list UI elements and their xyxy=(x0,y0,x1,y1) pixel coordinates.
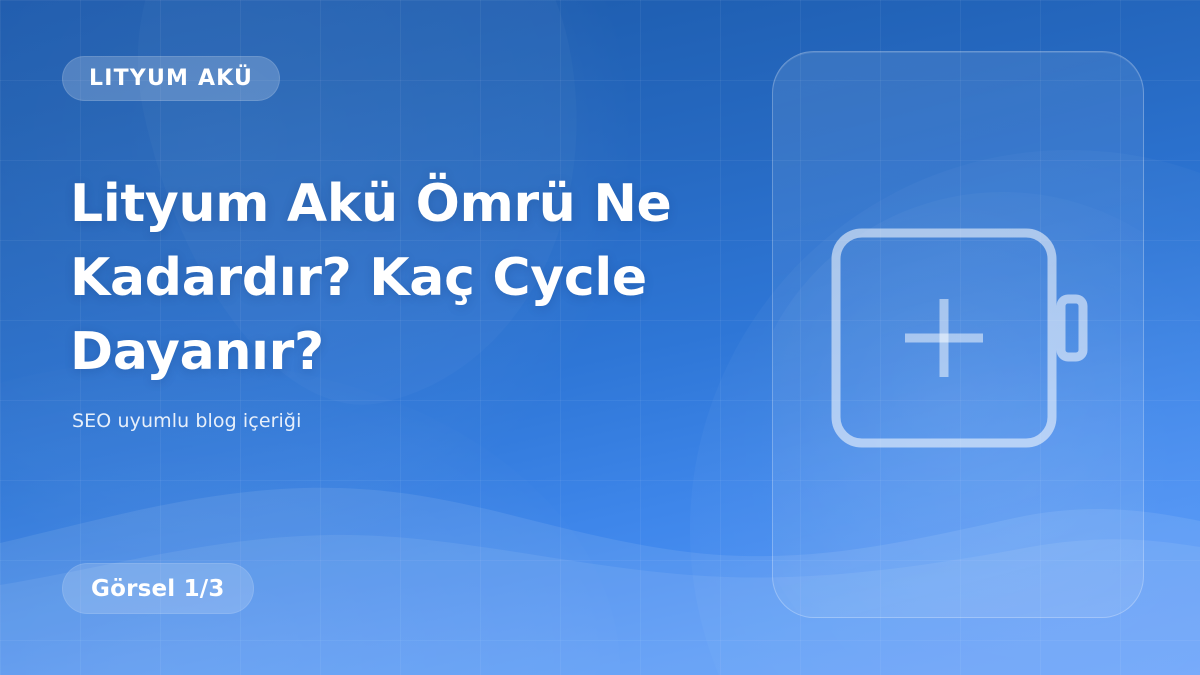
page-subtitle: SEO uyumlu blog içeriği xyxy=(72,410,301,432)
page-title: Lityum Akü Ömrü Ne Kadardır? Kaç Cycle D… xyxy=(70,168,690,389)
category-badge: LITYUM AKÜ xyxy=(62,56,280,101)
battery-plus-icon xyxy=(827,207,1089,469)
content-column: LITYUM AKÜ Lityum Akü Ömrü Ne Kadardır? … xyxy=(62,0,722,675)
image-counter-badge: Görsel 1/3 xyxy=(62,563,254,614)
battery-terminal-shape xyxy=(1061,299,1083,357)
slide-canvas: LITYUM AKÜ Lityum Akü Ömrü Ne Kadardır? … xyxy=(0,0,1200,675)
illustration-card xyxy=(772,51,1144,618)
